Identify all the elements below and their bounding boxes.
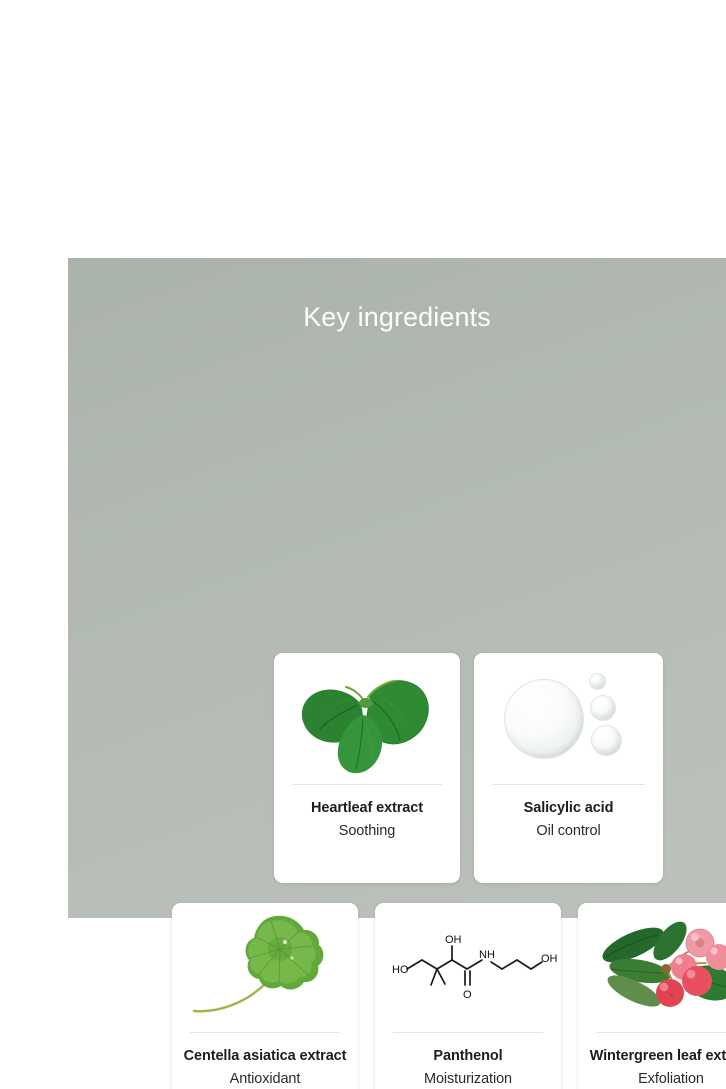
centella-leaf-icon bbox=[172, 903, 358, 1032]
gel-droplets-image bbox=[474, 653, 663, 784]
ingredient-benefit: Antioxidant bbox=[182, 1068, 348, 1089]
formula-label-oh-top: OH bbox=[445, 934, 462, 946]
ingredient-benefit: Soothing bbox=[284, 820, 450, 843]
ingredient-name: Centella asiatica extract bbox=[182, 1045, 348, 1068]
gel-droplet-small-icon bbox=[589, 673, 606, 690]
heartleaf-icon bbox=[274, 653, 460, 784]
gel-droplet-large-icon bbox=[504, 679, 584, 759]
formula-label-ho-left: HO bbox=[392, 964, 409, 976]
ingredient-card-panthenol[interactable]: HO OH NH O OH Panthenol Moisturization bbox=[375, 903, 561, 1089]
card-text-block: Panthenol Moisturization bbox=[375, 1033, 561, 1089]
ingredient-card-heartleaf[interactable]: Heartleaf extract Soothing bbox=[274, 653, 460, 883]
ingredient-card-salicylic-acid[interactable]: Salicylic acid Oil control bbox=[474, 653, 663, 883]
wintergreen-icon bbox=[578, 903, 726, 1032]
ingredient-name: Heartleaf extract bbox=[284, 797, 450, 820]
ingredient-benefit: Exfoliation bbox=[588, 1068, 726, 1089]
ingredient-name: Panthenol bbox=[385, 1045, 551, 1068]
card-text-block: Heartleaf extract Soothing bbox=[274, 785, 460, 883]
page-title: Key ingredients bbox=[68, 302, 726, 333]
card-text-block: Wintergreen leaf extract Exfoliation bbox=[578, 1033, 726, 1089]
gel-droplet-medium2-icon bbox=[591, 725, 622, 756]
gel-droplet-medium-icon bbox=[590, 695, 616, 721]
card-text-block: Centella asiatica extract Antioxidant bbox=[172, 1033, 358, 1089]
ingredient-name: Salicylic acid bbox=[484, 797, 653, 820]
ingredient-benefit: Moisturization bbox=[385, 1068, 551, 1089]
heartleaf-leaves-image bbox=[274, 653, 460, 784]
ingredient-card-centella-asiatica[interactable]: Centella asiatica extract Antioxidant bbox=[172, 903, 358, 1089]
formula-label-nh: NH bbox=[479, 949, 495, 961]
panthenol-structural-formula-image: HO OH NH O OH bbox=[375, 903, 561, 1032]
panthenol-chemical-structure-icon: HO OH NH O OH bbox=[375, 903, 561, 1032]
wintergreen-berries-image bbox=[578, 903, 726, 1032]
formula-label-oh-right: OH bbox=[541, 953, 558, 965]
key-ingredients-panel: Key ingredients bbox=[68, 258, 726, 918]
centella-leaf-image bbox=[172, 903, 358, 1032]
ingredients-infographic: Key ingredients bbox=[0, 0, 726, 1089]
ingredient-card-wintergreen[interactable]: Wintergreen leaf extract Exfoliation bbox=[578, 903, 726, 1089]
formula-label-carbonyl-o: O bbox=[463, 989, 472, 1001]
ingredient-name: Wintergreen leaf extract bbox=[588, 1045, 726, 1068]
card-text-block: Salicylic acid Oil control bbox=[474, 785, 663, 883]
ingredient-benefit: Oil control bbox=[484, 820, 653, 843]
